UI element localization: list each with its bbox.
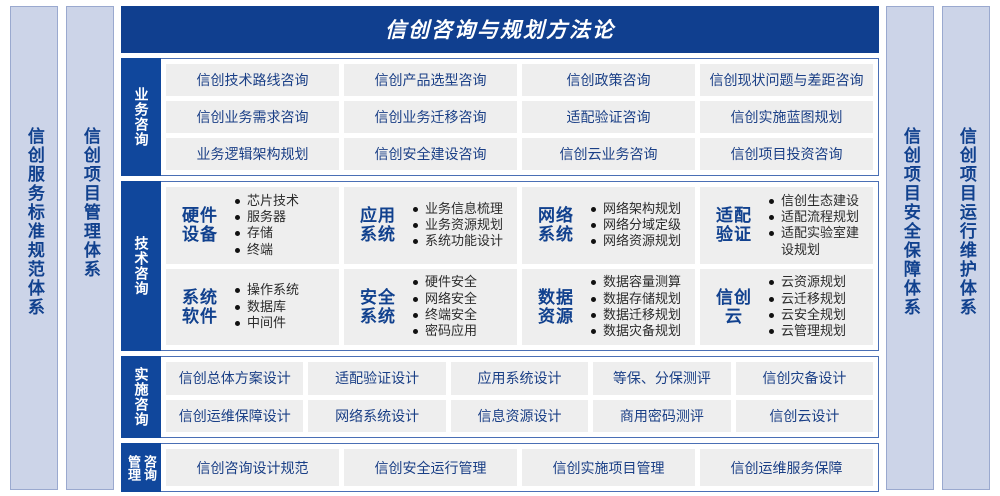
- list-item: 密码应用: [412, 323, 509, 339]
- list-item[interactable]: 信创灾备设计: [736, 362, 873, 395]
- list-item: 网络架构规划: [590, 201, 687, 217]
- list-item: 云资源规划: [768, 274, 865, 290]
- list-item[interactable]: 应用系统设计: [451, 362, 588, 395]
- list-item: 云迁移规划: [768, 291, 865, 307]
- list-item[interactable]: 信息资源设计: [451, 400, 588, 433]
- list-item[interactable]: 信创项目投资咨询: [700, 138, 873, 170]
- card-title: 系统软件: [174, 288, 226, 326]
- card-hardware-equipment[interactable]: 硬件设备 芯片技术 服务器 存储 终端: [166, 187, 339, 264]
- list-item: 网络分域定级: [590, 217, 687, 233]
- band-label-technical-consulting: 技术咨询: [121, 181, 161, 351]
- card-item-list: 操作系统 数据库 中间件: [234, 282, 331, 331]
- list-item: 数据灾备规划: [590, 323, 687, 339]
- list-item: 数据库: [234, 299, 331, 315]
- table-row: 信创总体方案设计 适配验证设计 应用系统设计 等保、分保测评 信创灾备设计: [166, 362, 873, 395]
- list-item[interactable]: 信创云业务咨询: [522, 138, 695, 170]
- right-pillar-operation-maintenance: 信创项目运行维护体系: [942, 6, 990, 490]
- left-pillar-service-standard: 信创服务标准规范体系: [10, 6, 58, 490]
- band-label-consulting-management-col2: 管理: [126, 455, 140, 481]
- band-technical-consulting: 技术咨询 硬件设备 芯片技术 服务器 存储 终端 应用系统: [121, 181, 879, 351]
- list-item: 适配实验室建设规划: [768, 225, 865, 258]
- diagram-canvas: 信创服务标准规范体系 信创项目管理体系 信创咨询与规划方法论 业务咨询 信创技术…: [0, 0, 1000, 496]
- list-item[interactable]: 信创产品选型咨询: [344, 64, 517, 96]
- list-item: 存储: [234, 225, 331, 241]
- list-item[interactable]: 信创总体方案设计: [166, 362, 303, 395]
- card-title: 数据资源: [530, 288, 582, 326]
- right-pillar-operation-maintenance-label: 信创项目运行维护体系: [957, 127, 975, 317]
- card-item-list: 芯片技术 服务器 存储 终端: [234, 193, 331, 258]
- list-item[interactable]: 业务逻辑架构规划: [166, 138, 339, 170]
- band-label-consulting-management-wrap: 咨询 管理: [126, 455, 156, 481]
- list-item[interactable]: 信创政策咨询: [522, 64, 695, 96]
- list-item[interactable]: 信创咨询设计规范: [166, 449, 339, 486]
- list-item[interactable]: 适配验证设计: [308, 362, 445, 395]
- table-row: 硬件设备 芯片技术 服务器 存储 终端 应用系统 业务信息梳理 业务资源规划: [166, 187, 873, 264]
- list-item[interactable]: 信创技术路线咨询: [166, 64, 339, 96]
- band-label-consulting-management-col1: 咨询: [142, 455, 156, 481]
- list-item: 操作系统: [234, 282, 331, 298]
- band-label-implementation-consulting: 实施咨询: [121, 356, 161, 438]
- list-item[interactable]: 信创云设计: [736, 400, 873, 433]
- list-item[interactable]: 信创安全建设咨询: [344, 138, 517, 170]
- band-consulting-management: 咨询 管理 信创咨询设计规范 信创安全运行管理 信创实施项目管理 信创运维服务保…: [121, 443, 879, 492]
- card-xinchuang-cloud[interactable]: 信创云 云资源规划 云迁移规划 云安全规划 云管理规划: [700, 269, 873, 346]
- band-implementation-consulting: 实施咨询 信创总体方案设计 适配验证设计 应用系统设计 等保、分保测评 信创灾备…: [121, 356, 879, 438]
- card-title: 安全系统: [352, 288, 404, 326]
- card-title: 应用系统: [352, 206, 404, 244]
- list-item: 信创生态建设: [768, 193, 865, 209]
- card-title: 硬件设备: [174, 206, 226, 244]
- list-item: 服务器: [234, 209, 331, 225]
- card-item-list: 数据容量测算 数据存储规划 数据迁移规划 数据灾备规划: [590, 274, 687, 339]
- list-item: 中间件: [234, 315, 331, 331]
- list-item: 数据迁移规划: [590, 307, 687, 323]
- list-item: 网络安全: [412, 291, 509, 307]
- list-item: 终端: [234, 242, 331, 258]
- table-row: 业务逻辑架构规划 信创安全建设咨询 信创云业务咨询 信创项目投资咨询: [166, 138, 873, 170]
- card-title: 网络系统: [530, 206, 582, 244]
- card-security-system[interactable]: 安全系统 硬件安全 网络安全 终端安全 密码应用: [344, 269, 517, 346]
- band-label-business-consulting-text: 业务咨询: [133, 87, 148, 147]
- card-network-system[interactable]: 网络系统 网络架构规划 网络分域定级 网络资源规划: [522, 187, 695, 264]
- band-business-consulting: 业务咨询 信创技术路线咨询 信创产品选型咨询 信创政策咨询 信创现状问题与差距咨…: [121, 58, 879, 176]
- table-row: 信创技术路线咨询 信创产品选型咨询 信创政策咨询 信创现状问题与差距咨询: [166, 64, 873, 96]
- list-item[interactable]: 信创实施蓝图规划: [700, 101, 873, 133]
- list-item: 业务资源规划: [412, 217, 509, 233]
- list-item: 系统功能设计: [412, 233, 509, 249]
- left-pillar-service-standard-label: 信创服务标准规范体系: [25, 127, 43, 317]
- list-item: 终端安全: [412, 307, 509, 323]
- card-item-list: 云资源规划 云迁移规划 云安全规划 云管理规划: [768, 274, 865, 339]
- band-panel-business-consulting: 信创技术路线咨询 信创产品选型咨询 信创政策咨询 信创现状问题与差距咨询 信创业…: [161, 58, 879, 176]
- list-item[interactable]: 信创现状问题与差距咨询: [700, 64, 873, 96]
- band-label-consulting-management: 咨询 管理: [121, 443, 161, 492]
- table-row: 信创运维保障设计 网络系统设计 信息资源设计 商用密码测评 信创云设计: [166, 400, 873, 433]
- list-item[interactable]: 信创运维服务保障: [700, 449, 873, 486]
- list-item: 数据存储规划: [590, 291, 687, 307]
- list-item[interactable]: 适配验证咨询: [522, 101, 695, 133]
- left-pillar-project-management-label: 信创项目管理体系: [81, 127, 99, 279]
- card-item-list: 业务信息梳理 业务资源规划 系统功能设计: [412, 201, 509, 250]
- right-pillar-security-assurance: 信创项目安全保障体系: [886, 6, 934, 490]
- band-panel-consulting-management: 信创咨询设计规范 信创安全运行管理 信创实施项目管理 信创运维服务保障: [161, 443, 879, 492]
- table-row: 系统软件 操作系统 数据库 中间件 安全系统 硬件安全 网络安全 终端安全: [166, 269, 873, 346]
- list-item: 硬件安全: [412, 274, 509, 290]
- list-item[interactable]: 信创实施项目管理: [522, 449, 695, 486]
- list-item[interactable]: 信创安全运行管理: [344, 449, 517, 486]
- card-title: 信创云: [708, 288, 760, 326]
- band-label-business-consulting: 业务咨询: [121, 58, 161, 176]
- list-item: 数据容量测算: [590, 274, 687, 290]
- left-pillar-project-management: 信创项目管理体系: [66, 6, 114, 490]
- list-item[interactable]: 信创业务需求咨询: [166, 101, 339, 133]
- list-item[interactable]: 信创业务迁移咨询: [344, 101, 517, 133]
- list-item: 云管理规划: [768, 323, 865, 339]
- list-item: 业务信息梳理: [412, 201, 509, 217]
- page-title: 信创咨询与规划方法论: [121, 6, 879, 53]
- list-item: 云安全规划: [768, 307, 865, 323]
- list-item: 芯片技术: [234, 193, 331, 209]
- card-data-resource[interactable]: 数据资源 数据容量测算 数据存储规划 数据迁移规划 数据灾备规划: [522, 269, 695, 346]
- card-item-list: 信创生态建设 适配流程规划 适配实验室建设规划: [768, 193, 865, 258]
- band-panel-technical-consulting: 硬件设备 芯片技术 服务器 存储 终端 应用系统 业务信息梳理 业务资源规划: [161, 181, 879, 351]
- table-row: 信创业务需求咨询 信创业务迁移咨询 适配验证咨询 信创实施蓝图规划: [166, 101, 873, 133]
- list-item: 网络资源规划: [590, 233, 687, 249]
- card-system-software[interactable]: 系统软件 操作系统 数据库 中间件: [166, 269, 339, 346]
- card-title: 适配验证: [708, 206, 760, 244]
- band-label-implementation-consulting-text: 实施咨询: [133, 367, 148, 427]
- list-item: 适配流程规划: [768, 209, 865, 225]
- band-panel-implementation-consulting: 信创总体方案设计 适配验证设计 应用系统设计 等保、分保测评 信创灾备设计 信创…: [161, 356, 879, 438]
- band-label-technical-consulting-text: 技术咨询: [133, 236, 148, 296]
- center-column: 信创咨询与规划方法论 业务咨询 信创技术路线咨询 信创产品选型咨询 信创政策咨询…: [121, 6, 879, 490]
- card-item-list: 硬件安全 网络安全 终端安全 密码应用: [412, 274, 509, 339]
- card-item-list: 网络架构规划 网络分域定级 网络资源规划: [590, 201, 687, 250]
- list-item[interactable]: 商用密码测评: [593, 400, 730, 433]
- card-application-system[interactable]: 应用系统 业务信息梳理 业务资源规划 系统功能设计: [344, 187, 517, 264]
- table-row: 信创咨询设计规范 信创安全运行管理 信创实施项目管理 信创运维服务保障: [166, 449, 873, 486]
- right-pillar-security-assurance-label: 信创项目安全保障体系: [901, 127, 919, 317]
- card-adaptation-verification[interactable]: 适配验证 信创生态建设 适配流程规划 适配实验室建设规划: [700, 187, 873, 264]
- list-item[interactable]: 信创运维保障设计: [166, 400, 303, 433]
- list-item[interactable]: 网络系统设计: [308, 400, 445, 433]
- list-item[interactable]: 等保、分保测评: [593, 362, 730, 395]
